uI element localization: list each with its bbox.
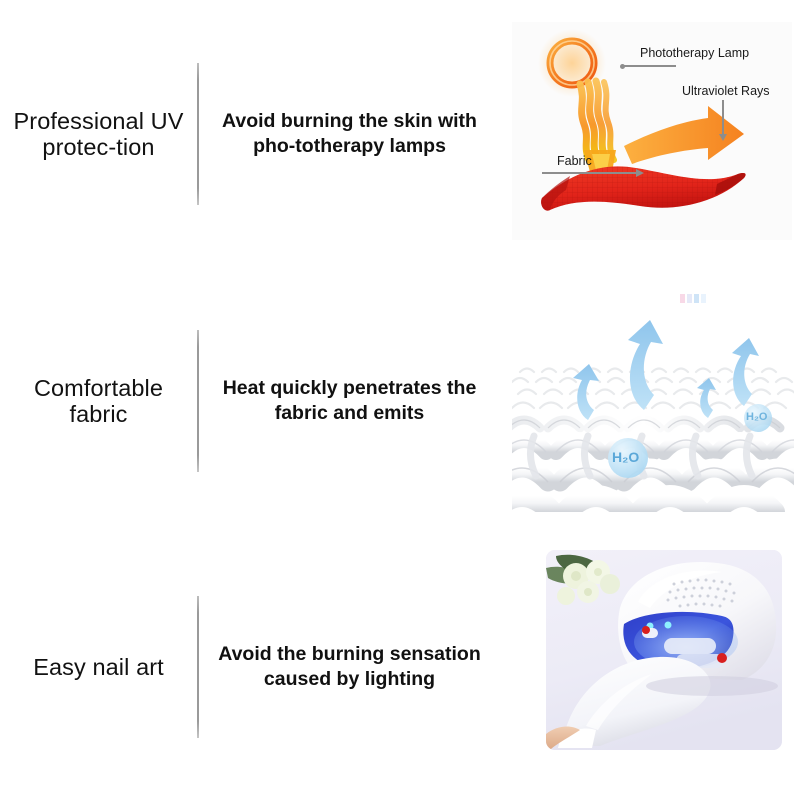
- color-dot: [680, 294, 685, 303]
- weave-graphic: [512, 286, 794, 512]
- droplet-label: H₂O: [746, 411, 767, 423]
- color-dots: [680, 294, 706, 303]
- feature-row: Professional UV protec-tion Avoid burnin…: [0, 0, 800, 268]
- feature-title: Professional UV protec-tion: [0, 108, 197, 161]
- feature-row: Comfortable fabric Heat quickly penetrat…: [0, 268, 800, 534]
- feature-description: Heat quickly penetrates the fabric and e…: [199, 376, 494, 426]
- feature-row: Easy nail art Avoid the burning sensatio…: [0, 534, 800, 800]
- phototherapy-lamp-label: Phototherapy Lamp: [640, 46, 749, 60]
- fabric-label: Fabric: [557, 154, 592, 168]
- feature-media: Phototherapy Lamp Ultraviolet Rays Fabri…: [494, 0, 800, 268]
- feature-description: Avoid the burning sensation caused by li…: [199, 642, 494, 692]
- droplet-label: H₂O: [612, 449, 639, 465]
- ultraviolet-rays-leader-line: [722, 100, 724, 136]
- color-dot: [694, 294, 699, 303]
- feature-media: White UV nail lamp with blue LED glow an…: [494, 534, 800, 800]
- phototherapy-lamp-leader-line: [624, 65, 676, 67]
- feature-media: H₂O H₂O: [494, 268, 800, 534]
- photo-alt-text: White UV nail lamp with blue LED glow an…: [546, 550, 547, 551]
- color-dot: [687, 294, 692, 303]
- color-dot: [701, 294, 706, 303]
- feature-description: Avoid burning the skin with pho-totherap…: [199, 109, 494, 159]
- feature-title: Easy nail art: [0, 654, 197, 680]
- product-feature-infographic: Professional UV protec-tion Avoid burnin…: [0, 0, 800, 800]
- uv-nail-lamp-with-gloved-hand-photo: White UV nail lamp with blue LED glow an…: [546, 550, 782, 750]
- fabric-leader-line: [542, 172, 638, 174]
- feature-title: Comfortable fabric: [0, 375, 197, 428]
- led-indicator: [665, 622, 672, 629]
- nail-lamp-graphic: [546, 550, 782, 750]
- ultraviolet-rays-label: Ultraviolet Rays: [682, 84, 770, 98]
- woven-fabric-breathability-diagram: H₂O H₂O: [512, 286, 794, 512]
- uv-lamp-fabric-diagram: Phototherapy Lamp Ultraviolet Rays Fabri…: [512, 22, 792, 240]
